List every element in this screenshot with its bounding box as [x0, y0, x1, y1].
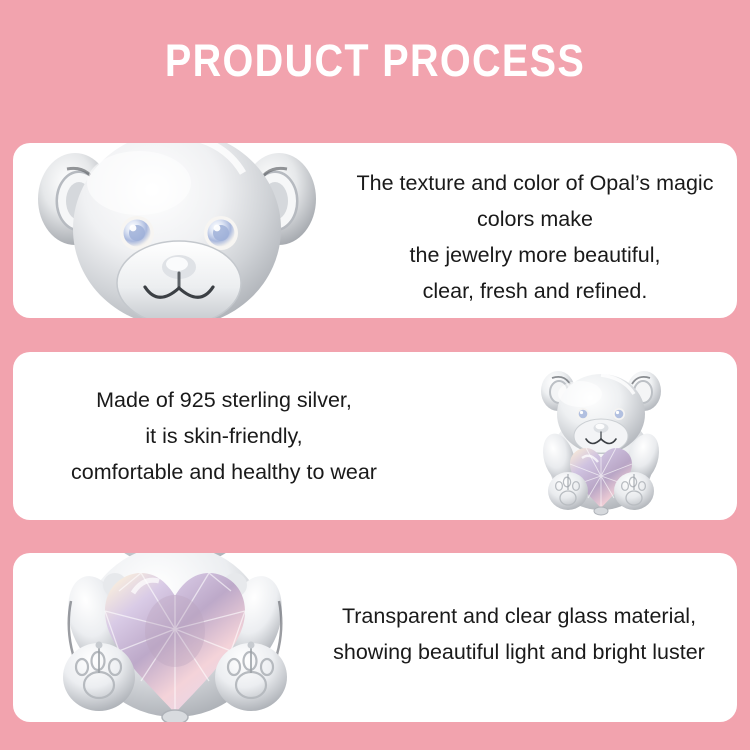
copy-line: it is skin-friendly, — [35, 418, 413, 454]
page-title: PRODUCT PROCESS — [45, 38, 705, 83]
copy-line: colors make — [335, 201, 735, 237]
copy-line: Transparent and clear glass material, — [313, 598, 725, 634]
copy-line: the jewelry more beautiful, — [335, 237, 735, 273]
product-process-infographic: PRODUCT PROCESS — [0, 0, 750, 750]
bear-face-closeup-image — [27, 143, 327, 318]
copy-line: Made of 925 sterling silver, — [35, 382, 413, 418]
heart-crystal-closeup-image — [41, 553, 309, 722]
copy-line: comfortable and healthy to wear — [35, 454, 413, 490]
panel-1-copy: The texture and color of Opal’s magic co… — [335, 165, 735, 309]
feature-panel-2: Made of 925 sterling silver, it is skin-… — [13, 352, 737, 520]
panel-2-copy: Made of 925 sterling silver, it is skin-… — [35, 382, 413, 490]
panel-3-copy: Transparent and clear glass material, sh… — [313, 598, 725, 670]
copy-line: showing beautiful light and bright luste… — [313, 634, 725, 670]
feature-panel-1: The texture and color of Opal’s magic co… — [13, 143, 737, 318]
copy-line: The texture and color of Opal’s magic — [335, 165, 735, 201]
copy-line: clear, fresh and refined. — [335, 273, 735, 309]
feature-panel-3: Transparent and clear glass material, sh… — [13, 553, 737, 722]
bear-full-body-image — [518, 358, 684, 518]
